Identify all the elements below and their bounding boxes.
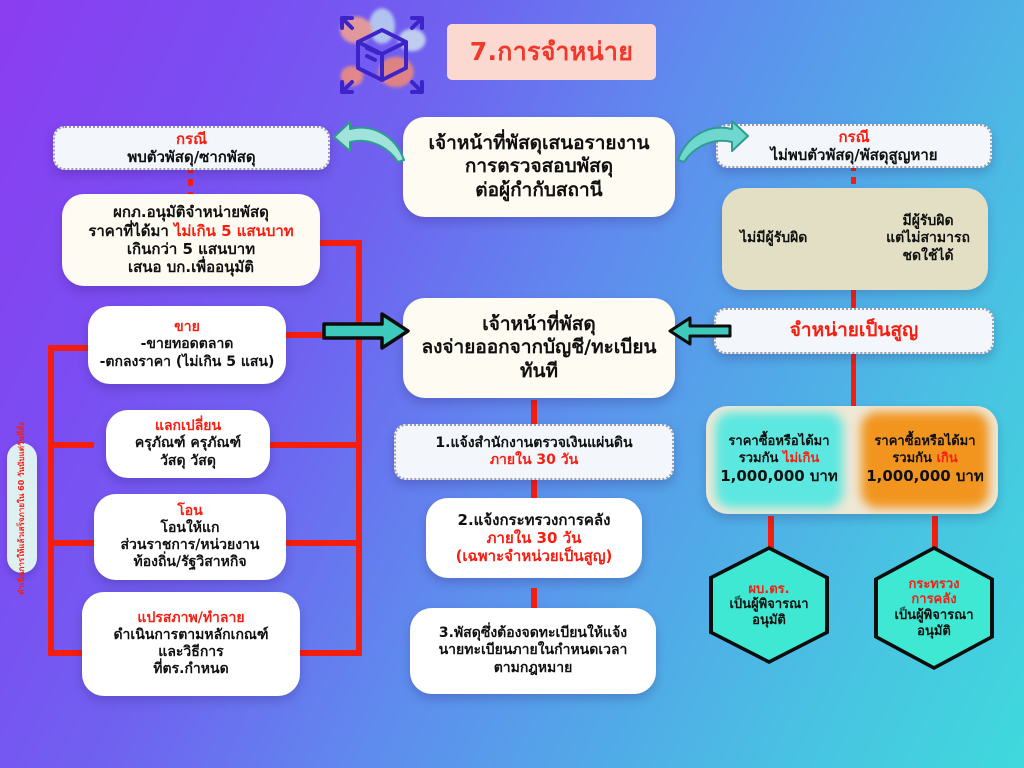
curved-arrow-right-icon — [676, 118, 750, 166]
top-center-line-2: การตรวจสอบพัสดุ — [465, 155, 613, 178]
sell-line-2: -ตกลงราคา (ไม่เกิน 5 แสน) — [100, 354, 275, 371]
node-liability[interactable]: ไม่มีผู้รับผิด มีผู้รับผิด แต่ไม่สามารถ … — [722, 188, 988, 290]
node-step-2[interactable]: 2.แจ้งกระทรวงการคลัง ภายใน 30 วัน (เฉพาะ… — [426, 498, 642, 578]
wire-center-spine-a — [531, 400, 537, 426]
sell-line-1: -ขายทอดตลาด — [141, 336, 234, 353]
flowchart-canvas: 7.การจำหน่าย ดำเนินการให้แล้วเสร็จภายใน … — [0, 0, 1024, 768]
exchange-line-2: วัสดุ วัสดุ — [160, 453, 216, 470]
step-2-line-2: ภายใน 30 วัน — [487, 529, 582, 547]
page-title: 7.การจำหน่าย — [470, 32, 633, 72]
wire-left-stub-transfer — [48, 540, 94, 546]
center-record-line-1: เจ้าหน้าที่พัสดุ — [482, 313, 595, 336]
node-center-record[interactable]: เจ้าหน้าที่พัสดุ ลงจ่ายออกจากบัญชี/ทะเบี… — [403, 298, 675, 398]
sell-title: ขาย — [174, 319, 200, 336]
right-case-title: กรณี — [838, 128, 869, 146]
approver-high-text: กระทรวง การคลัง เป็นผู้พิจารณา อนุมัติ — [894, 577, 973, 639]
step-1-line-2: ภายใน 30 วัน — [490, 452, 578, 469]
liability-right-line-1: มีผู้รับผิด — [902, 213, 953, 230]
top-center-line-3: ต่อผู้กำกับสถานี — [475, 179, 602, 202]
transfer-title: โอน — [177, 503, 203, 520]
convert-line-2: และวิธีการ — [158, 644, 223, 661]
node-approver-low[interactable]: ผบ.ตร. เป็นผู้พิจารณา อนุมัติ — [713, 550, 825, 660]
liability-right-line-3: ชดใช้ได้ — [903, 248, 954, 265]
step-3-line-3: ตามกฎหมาย — [494, 660, 573, 677]
node-right-case[interactable]: กรณี ไม่พบตัวพัสดุ/พัสดุสูญหาย — [716, 124, 992, 168]
price-low-line-3: 1,000,000 บาท — [720, 467, 838, 486]
price-high-line-2a: รวมกัน — [892, 451, 936, 466]
step-3-line-2: นายทะเบียนภายในกำหนดเวลา — [439, 642, 628, 659]
price-low-line-1: ราคาซื้อหรือได้มา — [720, 434, 838, 450]
approve-line-3: เกินกว่า 5 แสนบาท — [127, 240, 255, 258]
approve-line-4: เสนอ บก.เพื่ออนุมัติ — [128, 258, 254, 276]
step-2-line-3: (เฉพาะจำหน่วยเป็นสูญ) — [456, 547, 613, 565]
step-3-line-1: 3.พัสดุซึ่งต้องจดทะเบียนให้แจ้ง — [439, 625, 627, 642]
right-case-line-1: ไม่พบตัวพัสดุ/พัสดุสูญหาย — [770, 146, 937, 164]
step-2-line-1: 2.แจ้งกระทรวงการคลัง — [458, 511, 611, 529]
approve-line-1: ผกภ.อนุมัติจำหน่ายพัสดุ — [113, 203, 269, 221]
node-exchange[interactable]: แลกเปลี่ยน ครุภัณฑ์ ครุภัณฑ์ วัสดุ วัสดุ — [106, 410, 270, 478]
straight-arrow-left-icon — [668, 316, 732, 346]
price-high-line-3: 1,000,000 บาท — [866, 467, 984, 486]
wire-left-stub-exchange — [48, 442, 94, 448]
approver-low-title: ผบ.ตร. — [729, 582, 808, 598]
approver-high-title-1: กระทรวง — [894, 577, 973, 593]
package-box-icon — [330, 4, 434, 104]
side-note-text: ดำเนินการให้แล้วเสร็จภายใน 60 วันนับแต่ว… — [17, 422, 28, 595]
center-record-line-3: ทันที — [520, 360, 558, 383]
side-note-label: ดำเนินการให้แล้วเสร็จภายใน 60 วันนับแต่ว… — [7, 443, 37, 573]
top-center-line-1: เจ้าหน้าที่พัสดุเสนอรายงาน — [429, 132, 650, 155]
wire-center-spine-c — [531, 588, 537, 610]
node-approver-high[interactable]: กระทรวง การคลัง เป็นผู้พิจารณา อนุมัติ — [878, 550, 990, 666]
liability-right-line-2: แต่ไม่สามารถ — [886, 230, 970, 247]
price-high-line-2b: เกิน — [936, 451, 957, 466]
approver-high-title-2: การคลัง — [894, 592, 973, 608]
convert-line-1: ดำเนินการตามหลักเกณฑ์ — [113, 627, 268, 644]
approver-low-line-2: อนุมัติ — [729, 613, 808, 629]
wire-exchange-to-bus — [270, 442, 362, 448]
wire-left-bus — [48, 345, 54, 655]
left-case-title: กรณี — [176, 130, 207, 148]
left-case-line-1: พบตัวพัสดุ/ซากพัสดุ — [127, 148, 255, 166]
approve-line-2b: ไม่เกิน 5 แสนบาท — [174, 222, 294, 240]
wire-approve-to-bus — [316, 240, 362, 246]
straight-arrow-right-icon — [322, 312, 410, 350]
node-top-center[interactable]: เจ้าหน้าที่พัสดุเสนอรายงาน การตรวจสอบพัส… — [403, 117, 675, 217]
price-low-line-2a: รวมกัน — [739, 451, 783, 466]
wire-left-stub-sell — [48, 345, 88, 351]
liability-left: ไม่มีผู้รับผิด — [740, 230, 807, 247]
step-1-line-1: 1.แจ้งสำนักงานตรวจเงินแผ่นดิน — [435, 435, 632, 452]
node-step-1[interactable]: 1.แจ้งสำนักงานตรวจเงินแผ่นดิน ภายใน 30 ว… — [394, 424, 674, 480]
exchange-line-1: ครุภัณฑ์ ครุภัณฑ์ — [135, 435, 241, 452]
wire-right-spine-b — [851, 352, 856, 414]
price-low-cell: ราคาซื้อหรือได้มา รวมกัน ไม่เกิน 1,000,0… — [706, 406, 852, 514]
wire-transfer-to-bus — [286, 540, 362, 546]
node-write-off[interactable]: จำหน่ายเป็นสูญ — [714, 308, 994, 354]
approver-low-text: ผบ.ตร. เป็นผู้พิจารณา อนุมัติ — [729, 582, 808, 629]
exchange-title: แลกเปลี่ยน — [155, 418, 221, 435]
price-high-line-1: ราคาซื้อหรือได้มา — [866, 434, 984, 450]
approver-high-line-2: อนุมัติ — [894, 624, 973, 640]
wire-right-spine-a — [851, 288, 856, 310]
curved-arrow-left-icon — [332, 120, 406, 166]
convert-line-3: ที่ตร.กำหนด — [153, 661, 228, 678]
transfer-line-3: ท้องถิ่น/รัฐวิสาหกิจ — [133, 554, 246, 571]
price-low-line-2b: ไม่เกิน — [783, 451, 819, 466]
transfer-line-2: ส่วนราชการ/หน่วยงาน — [121, 537, 260, 554]
node-left-case[interactable]: กรณี พบตัวพัสดุ/ซากพัสดุ — [53, 126, 330, 170]
wire-center-spine-b — [531, 478, 537, 500]
price-high-cell: ราคาซื้อหรือได้มา รวมกัน เกิน 1,000,000 … — [852, 406, 998, 514]
page-title-chip: 7.การจำหน่าย — [447, 24, 656, 80]
center-record-line-2: ลงจ่ายออกจากบัญชี/ทะเบียน — [422, 336, 657, 359]
convert-title: แปรสภาพ/ทำลาย — [137, 610, 244, 627]
approver-low-line-1: เป็นผู้พิจารณา — [729, 597, 808, 613]
node-step-3[interactable]: 3.พัสดุซึ่งต้องจดทะเบียนให้แจ้ง นายทะเบี… — [410, 608, 656, 694]
node-transfer[interactable]: โอน โอนให้แก ส่วนราชการ/หน่วยงาน ท้องถิ่… — [94, 494, 286, 580]
transfer-line-1: โอนให้แก — [160, 520, 219, 537]
approve-line-2a: ราคาที่ได้มา — [88, 222, 174, 240]
wire-convert-to-bus — [300, 650, 362, 656]
node-price-comparison[interactable]: ราคาซื้อหรือได้มา รวมกัน ไม่เกิน 1,000,0… — [706, 406, 998, 514]
approver-high-line-1: เป็นผู้พิจารณา — [894, 608, 973, 624]
write-off-title: จำหน่ายเป็นสูญ — [790, 319, 918, 342]
node-approve[interactable]: ผกภ.อนุมัติจำหน่ายพัสดุ ราคาที่ได้มา ไม่… — [62, 194, 320, 286]
node-sell[interactable]: ขาย -ขายทอดตลาด -ตกลงราคา (ไม่เกิน 5 แสน… — [88, 306, 286, 384]
node-convert[interactable]: แปรสภาพ/ทำลาย ดำเนินการตามหลักเกณฑ์ และว… — [82, 592, 300, 696]
